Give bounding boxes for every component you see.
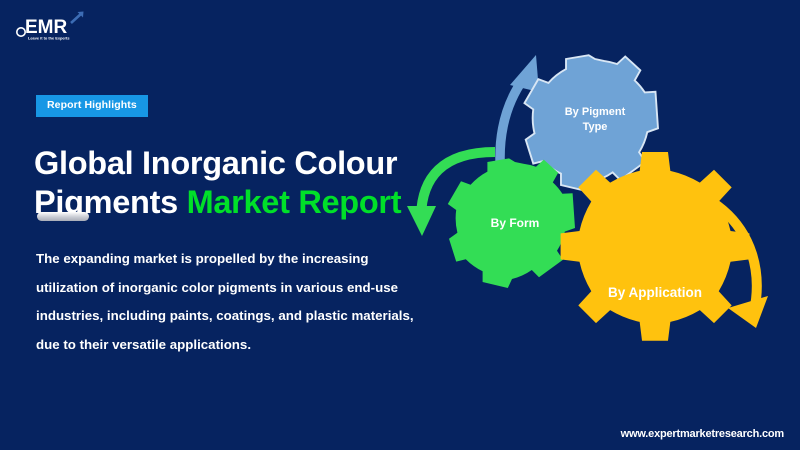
gear-by-pigment-type-label-line2: Type [583, 121, 608, 133]
report-highlights-badge[interactable]: Report Highlights [36, 95, 148, 117]
infographic-slide: EMR Leave it to the Experts Report Highl… [0, 0, 800, 450]
segmentation-gear-diagram: By Pigment Type By Form [400, 0, 800, 450]
title-divider [37, 212, 89, 221]
emr-logo[interactable]: EMR Leave it to the Experts [16, 9, 91, 43]
gear-by-application[interactable]: By Application [561, 152, 750, 341]
gear-by-application-label: By Application [608, 285, 702, 300]
emr-logo-mark: EMR Leave it to the Experts [16, 9, 91, 43]
gear-by-pigment-type-label-line1: By Pigment [565, 106, 626, 118]
page-title: Global Inorganic Colour Pigments Market … [34, 144, 434, 223]
page-title-accent: Market Report [187, 184, 402, 220]
gear-by-form-label: By Form [491, 216, 540, 230]
description-text: The expanding market is propelled by the… [36, 245, 426, 359]
logo-circle-icon [17, 28, 25, 36]
gear-by-form[interactable]: By Form [448, 158, 575, 288]
logo-tagline: Leave it to the Experts [28, 36, 70, 41]
